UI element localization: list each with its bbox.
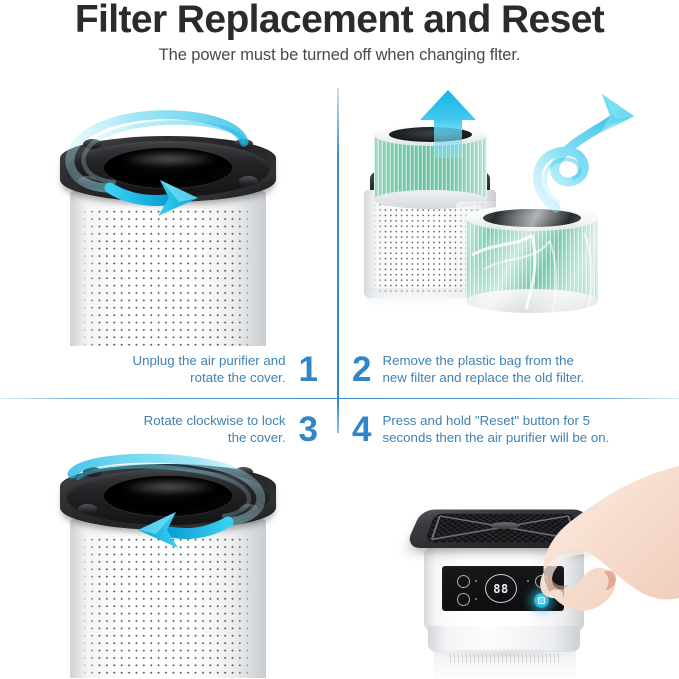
vertical-divider-bottom [337,399,339,433]
step-2-text: Remove the plastic bag from the new filt… [382,353,584,386]
page-subtitle: The power must be turned off when changi… [0,46,679,65]
step-1-text: Unplug the air purifier and rotate the c… [133,353,286,386]
step-3-illustration [48,452,298,678]
infographic-page: Filter Replacement and Reset The power m… [0,0,679,679]
lift-up-arrow-icon [402,90,512,158]
step-4-caption: 4 Press and hold "Reset" button for 5 se… [352,412,664,447]
step-3-caption: Rotate clockwise to lock the cover. 3 [60,412,318,447]
vertical-divider-top [337,88,339,398]
step-1-number: 1 [299,352,318,387]
step-4-number: 4 [352,412,371,447]
step-2-number: 2 [352,352,371,387]
rotate-arrow-counterclockwise-icon [48,96,298,346]
step-3-text: Rotate clockwise to lock the cover. [144,413,286,446]
horizontal-divider [0,398,679,399]
page-title: Filter Replacement and Reset [0,0,679,42]
hand-pointing-icon [398,448,679,679]
rotate-arrow-clockwise-icon [48,452,298,678]
step-1-illustration [48,96,298,346]
step-2-caption: 2 Remove the plastic bag from the new fi… [352,352,652,387]
step-3-number: 3 [299,412,318,447]
step-1-caption: Unplug the air purifier and rotate the c… [60,352,318,387]
swap-spiral-arrow-icon [528,90,652,226]
step-2-illustration [352,90,652,345]
step-4-text: Press and hold "Reset" button for 5 seco… [382,413,609,446]
step-4-illustration: 88 [398,448,679,679]
